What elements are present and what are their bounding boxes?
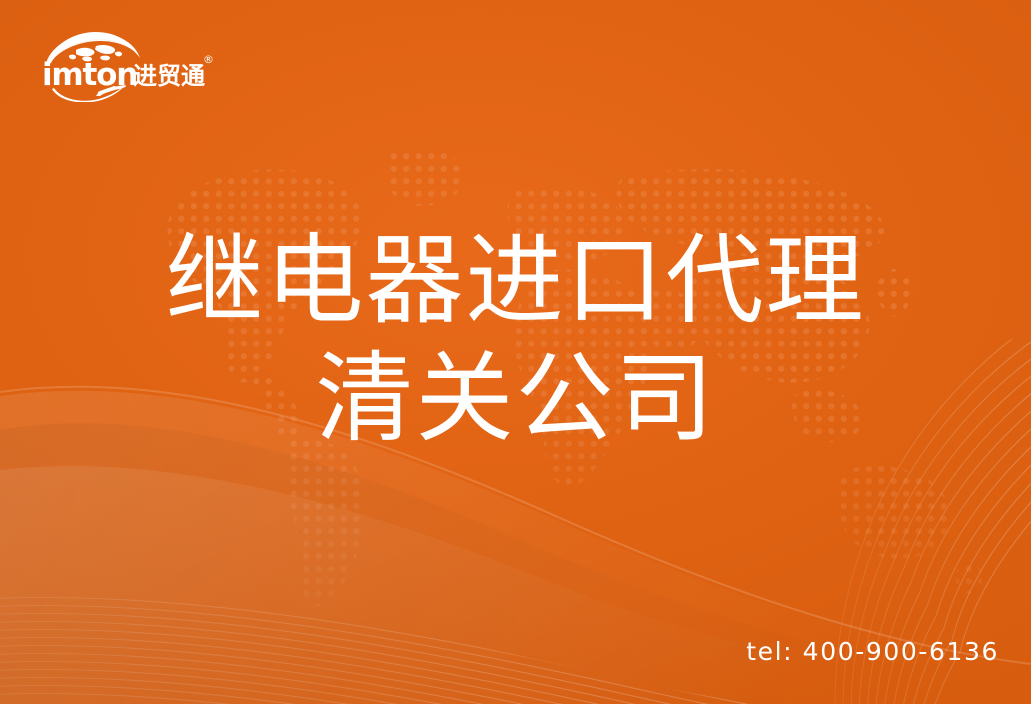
headline-line-2: 清关公司: [0, 340, 1031, 458]
logo-chinese-name: 进贸通: [133, 62, 205, 90]
contact-phone[interactable]: tel: 400-900-6136: [746, 637, 999, 666]
headline-line-1: 继电器进口代理: [0, 222, 1031, 340]
logo-trademark-symbol: ®: [203, 53, 214, 66]
company-logo[interactable]: imton 进贸通 ®: [40, 30, 220, 102]
promo-banner: imton 进贸通 ® 继电器进口代理 清关公司 tel: 400-900-61…: [0, 0, 1031, 704]
headline-block: 继电器进口代理 清关公司: [0, 222, 1031, 458]
